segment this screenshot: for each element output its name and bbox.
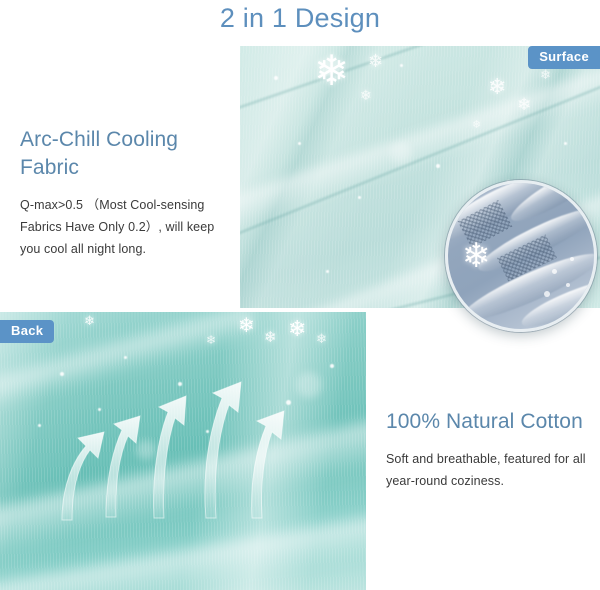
breathability-arrows: [0, 312, 366, 590]
sparkle: [298, 142, 301, 145]
sparkle: [564, 142, 567, 145]
arrow-up-icon: [62, 432, 104, 520]
fiber-dot: [570, 257, 574, 261]
arrow-up-icon: [154, 396, 186, 518]
body-natural-cotton: Soft and breathable, featured for all ye…: [386, 448, 586, 492]
arrow-up-icon: [106, 416, 140, 517]
sparkle: [436, 164, 440, 168]
infographic-page: 2 in 1 Design ❄ ❄ ❄ ❄ ❄ ❄ ❄: [0, 0, 600, 590]
sparkle: [326, 270, 329, 273]
sparkle: [400, 64, 403, 67]
badge-back: Back: [0, 320, 54, 343]
magnifier-inset: ❄: [445, 180, 597, 332]
sparkle: [358, 196, 361, 199]
arrow-up-icon: [205, 382, 241, 518]
photo-back: ❄ ❄ ❄ ❄ ❄ ❄: [0, 312, 366, 590]
heading-natural-cotton: 100% Natural Cotton: [386, 408, 586, 436]
fiber-dot: [544, 291, 550, 297]
sparkle: [274, 76, 278, 80]
arrow-up-icon: [252, 411, 284, 518]
page-title: 2 in 1 Design: [0, 2, 600, 34]
text-block-cooling-fabric: Arc-Chill Cooling Fabric Q-max>0.5 （Most…: [20, 126, 230, 260]
heading-cooling-fabric: Arc-Chill Cooling Fabric: [20, 126, 230, 182]
bokeh-blob: [390, 142, 412, 164]
fiber-dot: [566, 283, 570, 287]
badge-surface: Surface: [528, 46, 600, 69]
body-cooling-fabric: Q-max>0.5 （Most Cool-sensing Fabrics Hav…: [20, 194, 230, 260]
fiber-dot: [552, 269, 557, 274]
text-block-natural-cotton: 100% Natural Cotton Soft and breathable,…: [386, 408, 586, 492]
